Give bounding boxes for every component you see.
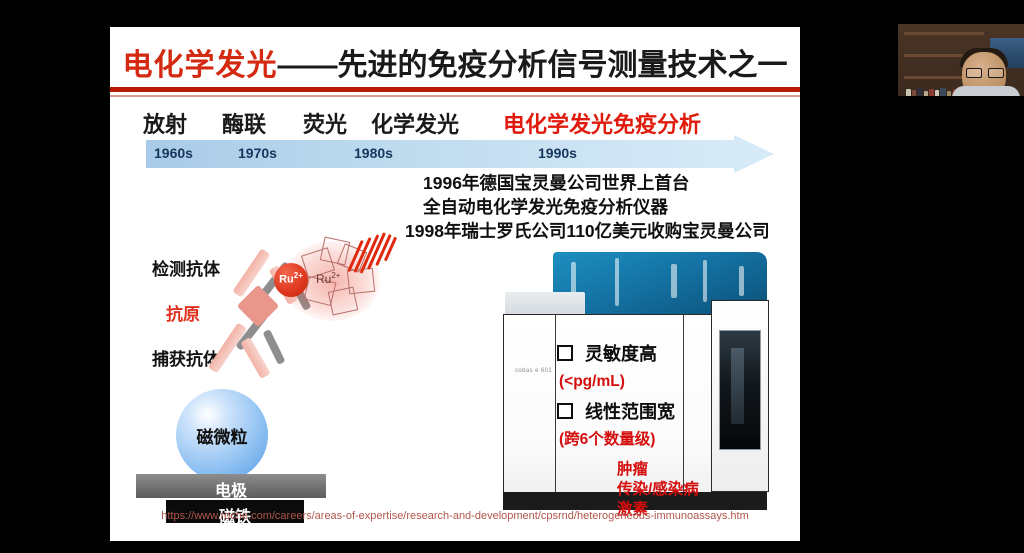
ru-ion-label: Ru2+ <box>274 271 308 286</box>
era-label-2: 荧光 <box>303 107 347 139</box>
history-note: 1996年德国宝灵曼公司世界上首台 全自动电化学发光免疫分析仪器 1998年瑞士… <box>405 171 800 243</box>
era-label-1: 酶联 <box>222 107 266 139</box>
source-url[interactable]: https://www.roche.com/careers/areas-of-e… <box>110 510 800 522</box>
magnetic-bead: 磁微粒 <box>176 389 268 481</box>
screen-canvas: 电化学发光——先进的免疫分析信号测量技术之一 放射 酶联 荧光 化学发光 电化学… <box>0 0 1024 553</box>
webcam-overlay[interactable] <box>898 24 1024 96</box>
timeline-arrow: 1960s 1970s 1980s 1990s <box>146 140 774 168</box>
label-antigen: 抗原 <box>166 300 200 325</box>
ru-ion-badge: Ru2+ <box>274 263 308 297</box>
electrode-bar: 电极 <box>136 474 326 498</box>
history-line-2: 1998年瑞士罗氏公司110亿美元收购宝灵曼公司 <box>405 219 800 243</box>
history-line-0: 1996年德国宝灵曼公司世界上首台 <box>405 171 800 195</box>
era-label-row: 放射 酶联 荧光 化学发光 电化学发光免疫分析 <box>110 107 800 139</box>
feature-label-1: 线性范围宽 <box>585 398 675 424</box>
decade-label-2: 1980s <box>354 145 393 161</box>
checkbox-icon-1 <box>557 403 573 419</box>
application-0: 肿瘤 <box>557 460 797 480</box>
analyzer-panel-seam-left <box>555 314 556 496</box>
light-emission-waves <box>352 231 398 283</box>
slide-title-rest: ——先进的免疫分析信号测量技术之一 <box>278 49 788 82</box>
magnetic-bead-label: 磁微粒 <box>176 423 268 448</box>
feature-list: 灵敏度高 (<pg/mL) 线性范围宽 (跨6个数量级) 肿瘤 传染/感染病 激… <box>557 340 797 520</box>
timeline-bar <box>146 140 734 168</box>
feature-note-1: (跨6个数量级) <box>557 428 797 452</box>
label-detection-antibody: 检测抗体 <box>152 255 220 280</box>
history-line-1: 全自动电化学发光免疫分析仪器 <box>405 195 800 219</box>
era-label-4: 电化学发光免疫分析 <box>503 107 701 139</box>
presentation-slide: 电化学发光——先进的免疫分析信号测量技术之一 放射 酶联 荧光 化学发光 电化学… <box>110 27 800 541</box>
title-divider-thin <box>110 95 800 97</box>
decade-label-1: 1970s <box>238 145 277 161</box>
feature-label-0: 灵敏度高 <box>585 340 657 366</box>
ru-center-label: Ru2+ <box>316 271 340 286</box>
ru-complex: Ru2+ Ru2+ <box>278 233 388 328</box>
title-divider-thick <box>110 87 800 92</box>
decade-label-3: 1990s <box>538 145 577 161</box>
feature-row-0: 灵敏度高 <box>557 340 797 370</box>
electrode-label: 电极 <box>136 477 326 501</box>
slide-title: 电化学发光——先进的免疫分析信号测量技术之一 <box>110 40 800 84</box>
application-1: 传染/感染病 <box>557 480 797 500</box>
checkbox-icon-0 <box>557 345 573 361</box>
glasses-icon <box>966 68 1002 76</box>
immunoassay-schematic: 检测抗体 抗原 捕获抗体 <box>118 225 403 515</box>
analyzer-model-label: cobas e 601 <box>515 368 552 374</box>
era-label-0: 放射 <box>143 107 187 139</box>
decade-label-0: 1960s <box>154 145 193 161</box>
timeline-arrowhead <box>734 135 774 173</box>
person-shoulders <box>952 86 1020 96</box>
era-label-3: 化学发光 <box>371 107 459 139</box>
feature-row-1: 线性范围宽 <box>557 398 797 428</box>
slide-title-accent: 电化学发光 <box>123 49 278 82</box>
feature-note-0: (<pg/mL) <box>557 370 797 394</box>
